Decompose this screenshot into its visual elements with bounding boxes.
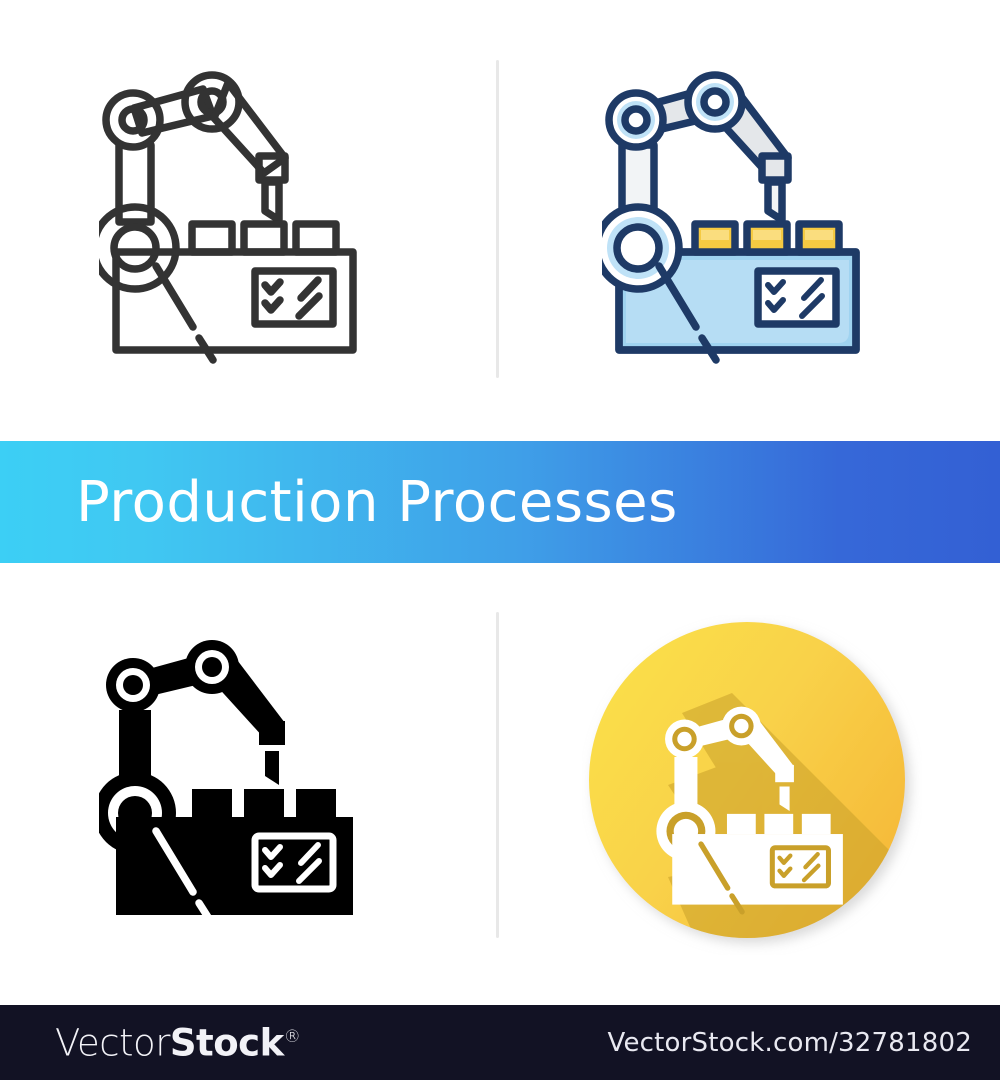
- product-box-highlight: [805, 230, 833, 240]
- robot-arm-elbow-joint: [185, 640, 239, 694]
- vectorstock-url[interactable]: VectorStock.com/32781802: [608, 1028, 973, 1058]
- product-box-highlight: [701, 230, 729, 240]
- production-processes-glyph-icon: [99, 635, 399, 935]
- divider-top: [496, 60, 499, 378]
- robot-arm-upper-joint-inner: [122, 109, 144, 131]
- product-box-highlight: [753, 230, 781, 240]
- product-box: [801, 814, 830, 834]
- robot-gripper-tip: [768, 182, 782, 220]
- product-box: [764, 814, 793, 834]
- production-processes-badge-icon: [582, 615, 922, 955]
- product-box: [296, 789, 336, 817]
- robot-arm-upper-joint-outer: [106, 93, 160, 147]
- checklist-check-icon: [265, 282, 280, 292]
- robot-gripper-tip: [265, 182, 279, 220]
- product-box: [244, 224, 284, 252]
- robot-gripper-tip: [265, 751, 279, 785]
- product-box: [192, 224, 232, 252]
- logo-text-bold: Stock: [170, 1021, 284, 1064]
- icon-variant-long-shadow[interactable]: [503, 565, 1000, 1005]
- product-box: [244, 789, 284, 817]
- product-box: [192, 789, 232, 817]
- registered-mark-icon: ®: [284, 1027, 301, 1047]
- vectorstock-logo[interactable]: VectorStock®: [55, 1021, 301, 1064]
- page-title: Production Processes: [0, 470, 678, 535]
- icon-variant-line[interactable]: [0, 0, 497, 440]
- icon-variant-glyph[interactable]: [0, 565, 497, 1005]
- product-box: [296, 224, 336, 252]
- footer-bar: VectorStock® VectorStock.com/32781802: [0, 1005, 1000, 1080]
- logo-text-light: Vector: [55, 1021, 170, 1064]
- robot-pointer-arm: [156, 266, 193, 327]
- robot-arm-base-joint-inner: [114, 227, 156, 269]
- robot-arm-elbow-joint-inner: [704, 91, 726, 113]
- robot-arm-elbow-joint: [721, 707, 760, 746]
- title-banner: Production Processes: [0, 441, 1000, 563]
- product-box: [726, 814, 755, 834]
- robot-arm-upper-joint-inner: [625, 109, 647, 131]
- product-box-group: [695, 224, 839, 252]
- production-processes-line-icon: [99, 70, 399, 370]
- robot-arm-upper-joint: [665, 720, 704, 759]
- icon-sheet: Production Processes VectorStock® Vector…: [0, 0, 1000, 1080]
- checklist-check-icon: [265, 300, 280, 310]
- robot-arm-base-joint-inner: [617, 227, 659, 269]
- robot-arm-upper-joint: [106, 658, 160, 712]
- divider-bottom: [496, 612, 499, 938]
- icon-variant-color[interactable]: [503, 0, 1000, 440]
- robot-gripper-head: [775, 765, 794, 782]
- robot-gripper-head: [762, 156, 788, 180]
- production-processes-color-icon: [602, 70, 902, 370]
- robot-gripper-head: [259, 721, 285, 745]
